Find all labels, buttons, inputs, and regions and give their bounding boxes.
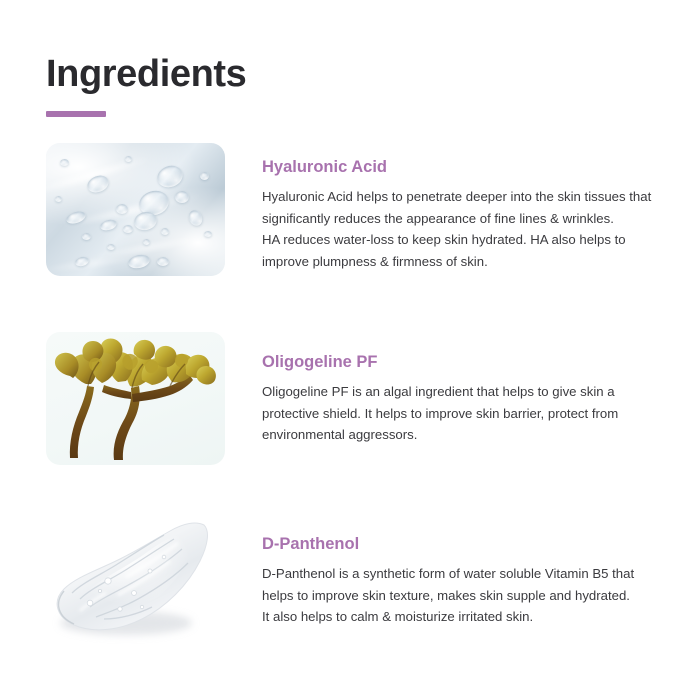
ingredient-name: D-Panthenol [262,534,666,554]
d-panthenol-clear-gel-swatch-photo [46,519,225,645]
ingredient-description: D-Panthenol is a synthetic form of water… [262,563,666,628]
water-droplet [175,191,189,203]
title-accent-rule [46,111,106,117]
water-droplet [143,239,150,245]
ingredient-description: Hyaluronic Acid helps to penetrate deepe… [262,186,666,272]
water-droplet [204,231,212,237]
ingredient-item: Oligogeline PF Oligogeline PF is an alga… [46,332,666,465]
ingredient-name: Oligogeline PF [262,352,666,372]
water-droplet [107,244,115,250]
page-header: Ingredients [46,52,246,117]
ingredient-text: Hyaluronic Acid Hyaluronic Acid helps to… [225,143,666,272]
ingredient-text: D-Panthenol D-Panthenol is a synthetic f… [225,519,666,628]
water-droplet [116,204,128,214]
oligogeline-pf-seaweed-photo [46,332,225,465]
ingredients-page: Ingredients [0,0,700,700]
ingredient-text: Oligogeline PF Oligogeline PF is an alga… [225,332,666,446]
water-droplet [161,228,169,235]
ingredient-description: Oligogeline PF is an algal ingredient th… [262,381,666,446]
ingredient-item: Hyaluronic Acid Hyaluronic Acid helps to… [46,143,666,276]
ingredient-name: Hyaluronic Acid [262,157,666,177]
hyaluronic-acid-gel-droplets-photo [46,143,225,276]
seaweed-illustration [46,332,225,465]
gel-swatch-illustration [46,519,225,645]
ingredient-item: D-Panthenol D-Panthenol is a synthetic f… [46,519,666,645]
page-title: Ingredients [46,52,246,96]
